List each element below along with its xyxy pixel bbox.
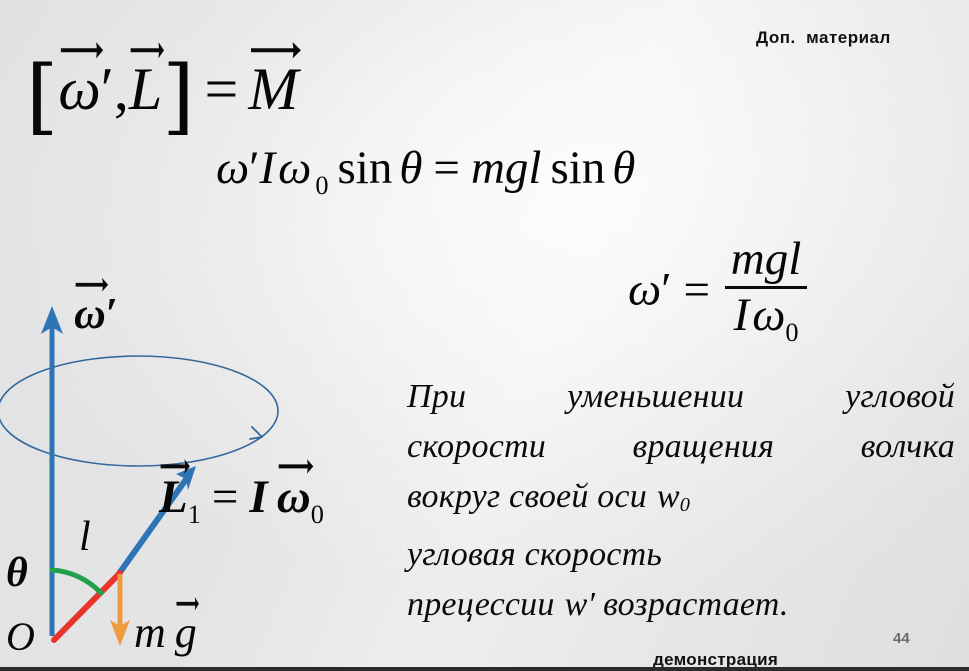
header-label: Доп. материал: [756, 28, 891, 48]
M-vector: M: [248, 55, 298, 124]
subscript-zero: 0: [315, 171, 328, 201]
gravity-glyph: g: [175, 608, 197, 657]
prime-mark: ′: [106, 289, 118, 338]
word: угловой: [845, 372, 955, 422]
theta-glyph: θ: [6, 550, 28, 596]
L-glyph: L: [129, 56, 162, 122]
vector-arrow-icon: [75, 275, 108, 290]
vector-arrow-icon: [130, 37, 165, 57]
equals-sign: =: [683, 264, 710, 316]
L-glyph: L: [159, 471, 188, 523]
diagram-equation-L1: L1=Iω0: [159, 470, 324, 530]
omega-zero-vector: ω: [277, 470, 311, 524]
omega-glyph: ω: [216, 142, 249, 194]
fraction: mgl Iω0: [725, 235, 808, 347]
diagram-label-theta: θ: [6, 549, 28, 597]
omega-glyph: ω: [74, 289, 106, 338]
subscript-one: 1: [188, 500, 201, 530]
line3-text: вокруг своей оси: [407, 478, 647, 515]
word: волчка: [861, 422, 955, 472]
moment-of-inertia-glyph: I: [249, 471, 267, 523]
fraction-numerator: mgl: [725, 235, 808, 286]
omega-prime-axis-arrow-icon: [41, 306, 63, 636]
slide-canvas: Доп. материал [ω′,L]=M ω′Iω0sinθ=mglsinθ…: [0, 0, 969, 671]
gravity-arrow-icon: [110, 574, 130, 646]
explanation-paragraph: При уменьшении угловой скорости вращения…: [407, 372, 955, 630]
diagram-label-omega-prime: ω′: [74, 288, 118, 339]
prime-mark: ′: [249, 142, 259, 194]
subscript-zero: 0: [311, 500, 324, 530]
fraction-denominator: Iω0: [725, 286, 808, 347]
diagram-label-mg: mg: [134, 607, 197, 658]
moment-of-inertia-glyph: I: [734, 289, 750, 341]
equals-sign: =: [433, 142, 460, 194]
comma: ,: [114, 56, 129, 122]
line5-text-a: прецессии: [407, 586, 555, 623]
omega-prime-vector: ω: [74, 288, 106, 339]
mgl-term: mgl: [471, 142, 542, 194]
prime-mark: ′: [661, 264, 671, 316]
moment-of-inertia-glyph: I: [259, 142, 275, 194]
L-vector: L: [159, 470, 188, 524]
paragraph-line-5: прецессииw′возрастает.: [407, 580, 955, 630]
vector-arrow-icon: [60, 37, 104, 57]
M-glyph: M: [248, 56, 298, 122]
theta-glyph: θ: [612, 142, 635, 194]
sin-function: sin: [337, 142, 392, 194]
word: При: [407, 372, 466, 422]
equals-sign: =: [205, 56, 239, 122]
sin-function: sin: [550, 142, 605, 194]
omega-glyph: ω: [277, 471, 311, 523]
formula-precession-rate: ω′= mgl Iω0: [628, 238, 810, 350]
bracket-close: ]: [162, 47, 194, 144]
angle-arc-icon: [52, 570, 101, 593]
page-number: 44: [893, 630, 910, 647]
mass-glyph: m: [134, 608, 166, 657]
formula-commutator: [ω′,L]=M: [26, 47, 298, 144]
bracket-open: [: [26, 47, 58, 144]
word: вращения: [632, 422, 774, 472]
precession-circle-icon: [0, 356, 278, 466]
g-vector: g: [175, 607, 197, 658]
diagram-label-lever-arm: l: [79, 513, 91, 561]
paragraph-line-2: скорости вращения волчка: [407, 422, 955, 472]
omega-glyph: ω: [628, 264, 661, 316]
omega-zero-glyph: ω: [278, 142, 311, 194]
omega-symbol: w: [657, 478, 680, 515]
word: уменьшении: [567, 372, 744, 422]
theta-glyph: θ: [399, 142, 422, 194]
line5-text-b: возрастает.: [603, 586, 789, 623]
omega-symbol: w: [565, 586, 588, 623]
diagram-label-origin: O: [6, 613, 35, 660]
paragraph-line-3: вокруг своей осиw0: [407, 472, 955, 530]
subscript-zero: 0: [785, 319, 798, 347]
equals-sign: =: [212, 471, 239, 523]
vector-arrow-icon: [250, 37, 302, 57]
subscript-zero: 0: [680, 480, 690, 530]
omega-prime-vector: ω: [58, 55, 100, 124]
omega-glyph: ω: [752, 289, 785, 341]
formula-torque-balance: ω′Iω0sinθ=mglsinθ: [216, 141, 635, 201]
origin-glyph: O: [6, 614, 35, 659]
l-glyph: l: [79, 514, 91, 560]
L-vector: L: [129, 55, 162, 124]
word: скорости: [407, 422, 546, 472]
paragraph-line-1: При уменьшении угловой: [407, 372, 955, 422]
prime-mark: ′: [101, 56, 114, 122]
prime-mark: ′: [587, 586, 595, 623]
footer-demonstration-label: демонстрация: [653, 650, 778, 670]
omega-glyph: ω: [58, 56, 100, 122]
paragraph-line-4: угловая скорость: [407, 530, 955, 580]
